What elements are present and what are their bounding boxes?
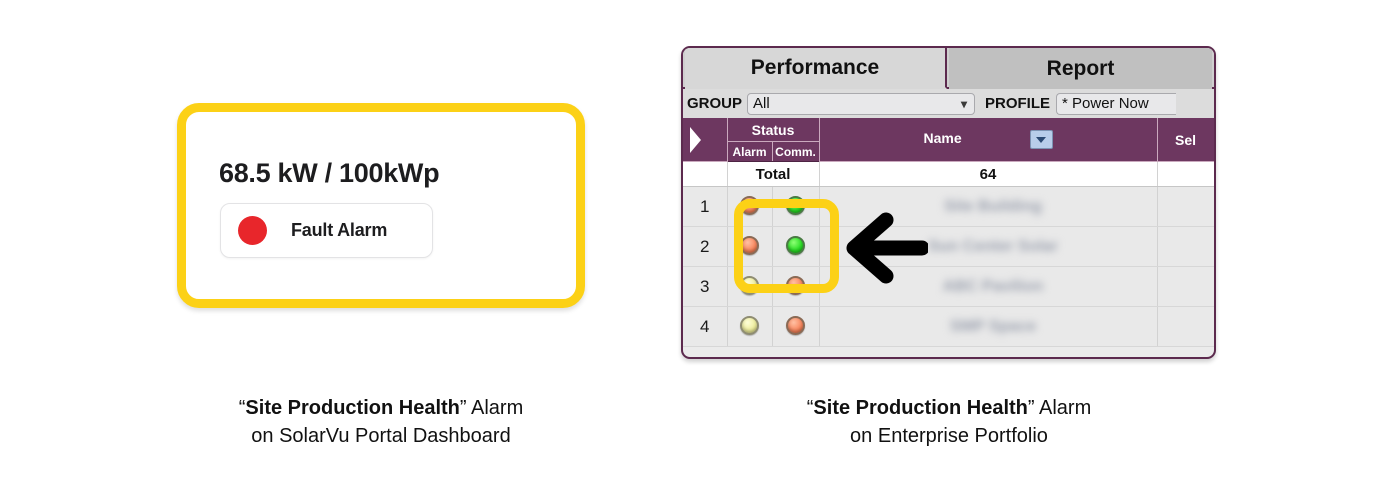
comm-subheader: Comm. [772, 142, 819, 162]
site-name-redacted: Sun Center Solar [928, 238, 1058, 256]
alarm-status-cell[interactable] [727, 227, 772, 267]
sel-cell[interactable] [1157, 267, 1214, 307]
sel-cell[interactable] [1157, 307, 1214, 347]
tab-strip: Performance Report [683, 48, 1214, 89]
profile-select[interactable]: * Power Now [1056, 93, 1176, 115]
alarm-subheader: Alarm [727, 142, 772, 162]
filter-bar: GROUP All ▾ PROFILE * Power Now [683, 89, 1214, 118]
alarm-led-yellow-icon [740, 316, 759, 335]
expand-arrow-icon [690, 127, 701, 153]
fault-alarm-label: Fault Alarm [291, 220, 387, 241]
fault-alarm-dot-icon [238, 216, 267, 245]
fault-alarm-status[interactable]: Fault Alarm [220, 203, 433, 258]
group-label: GROUP [687, 95, 742, 112]
pointer-arrow-icon [838, 212, 928, 284]
solarvu-dashboard-figure: 68.5 kW / 100kWp Fault Alarm [177, 103, 585, 308]
portfolio-table: Status Name Sel Alarm Comm. Total 64 [683, 118, 1215, 347]
sel-cell[interactable] [1157, 187, 1214, 227]
comm-status-cell[interactable] [772, 227, 819, 267]
rownum-header [683, 118, 727, 162]
total-rownum-cell [683, 162, 727, 187]
comm-status-cell[interactable] [772, 267, 819, 307]
site-name-redacted: ABC Pavilion [943, 278, 1043, 296]
status-header: Status [727, 118, 819, 142]
sel-cell[interactable] [1157, 227, 1214, 267]
total-sel-cell [1157, 162, 1214, 187]
site-name-redacted: SMP Space [950, 318, 1036, 336]
table-row[interactable]: 2Sun Center Solar [683, 227, 1214, 267]
row-number: 4 [683, 307, 727, 347]
caption-right-quoted: Site Production Health [813, 397, 1027, 419]
name-header-label: Name [924, 130, 962, 146]
alarm-status-cell[interactable] [727, 307, 772, 347]
name-sort-dropdown-icon[interactable] [1030, 130, 1053, 149]
row-number: 3 [683, 267, 727, 307]
caption-left: “Site Production Health” Alarm on SolarV… [181, 394, 581, 450]
comm-led-orange-icon [786, 316, 805, 335]
comm-led-green-icon [786, 236, 805, 255]
caption-right: “Site Production Health” Alarm on Enterp… [750, 394, 1148, 450]
site-name-redacted: Site Building [944, 198, 1042, 216]
power-readout: 68.5 kW / 100kWp [219, 158, 439, 189]
total-label: Total [727, 162, 819, 187]
comm-led-green-icon [786, 196, 805, 215]
table-body: Total 64 1Site Building2Sun Center Solar… [683, 162, 1214, 347]
total-name-count: 64 [819, 162, 1157, 187]
row-number: 1 [683, 187, 727, 227]
sel-header: Sel [1157, 118, 1214, 162]
profile-label: PROFILE [985, 95, 1050, 112]
alarm-status-cell[interactable] [727, 187, 772, 227]
caption-right-line2: on Enterprise Portfolio [750, 422, 1148, 450]
group-select-value: All [753, 95, 770, 112]
chevron-down-icon: ▾ [961, 97, 967, 111]
alarm-led-yellow-icon [740, 276, 759, 295]
name-header: Name [819, 118, 1157, 162]
caption-left-line2: on SolarVu Portal Dashboard [181, 422, 581, 450]
group-select[interactable]: All ▾ [747, 93, 975, 115]
alarm-led-orange-icon [740, 196, 759, 215]
tab-performance[interactable]: Performance [685, 48, 947, 89]
comm-status-cell[interactable] [772, 307, 819, 347]
comm-led-orange-icon [786, 276, 805, 295]
caption-right-line1: “Site Production Health” Alarm [750, 394, 1148, 422]
caption-left-quoted: Site Production Health [245, 397, 459, 419]
dashboard-card: 68.5 kW / 100kWp Fault Alarm [177, 103, 585, 308]
table-row[interactable]: 4SMP Space [683, 307, 1214, 347]
site-name-cell[interactable]: SMP Space [819, 307, 1157, 347]
caption-left-line1: “Site Production Health” Alarm [181, 394, 581, 422]
tab-report[interactable]: Report [949, 48, 1212, 89]
table-header-row: Status Name Sel [683, 118, 1214, 142]
table-row[interactable]: 1Site Building [683, 187, 1214, 227]
alarm-status-cell[interactable] [727, 267, 772, 307]
caption-right-suffix: Alarm [1035, 397, 1092, 419]
alarm-led-orange-icon [740, 236, 759, 255]
portfolio-panel: Performance Report GROUP All ▾ PROFILE *… [681, 46, 1216, 359]
table-row[interactable]: 3ABC Pavilion [683, 267, 1214, 307]
comm-status-cell[interactable] [772, 187, 819, 227]
profile-select-value: * Power Now [1062, 95, 1149, 112]
enterprise-portfolio-figure: Performance Report GROUP All ▾ PROFILE *… [681, 46, 1216, 359]
row-number: 2 [683, 227, 727, 267]
caption-left-suffix: Alarm [467, 397, 524, 419]
total-row: Total 64 [683, 162, 1214, 187]
